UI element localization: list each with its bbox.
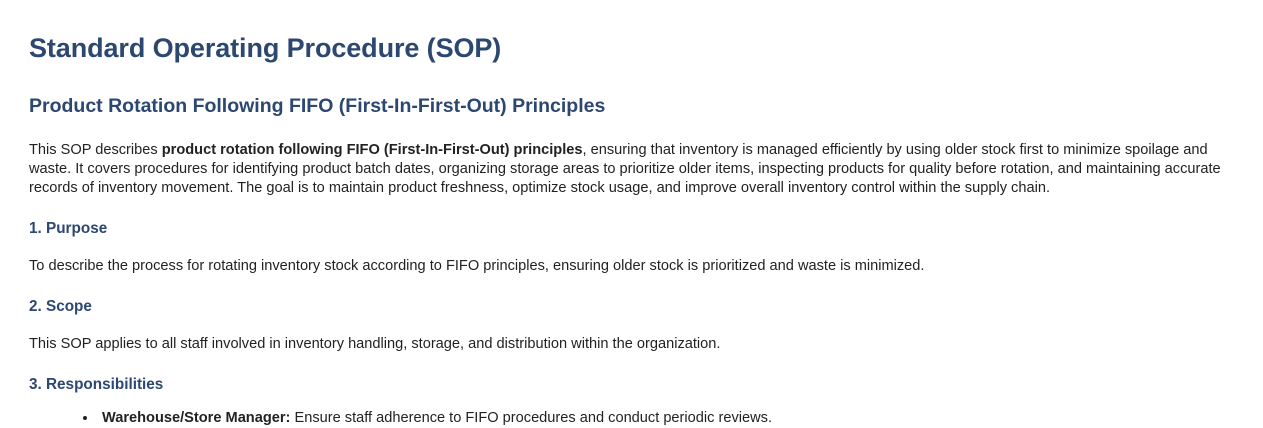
responsibilities-list: Warehouse/Store Manager: Ensure staff ad… bbox=[29, 395, 1234, 428]
document-subtitle: Product Rotation Following FIFO (First-I… bbox=[29, 64, 1234, 118]
section-heading-scope: 2. Scope bbox=[29, 276, 1234, 316]
intro-paragraph: This SOP describes product rotation foll… bbox=[29, 119, 1234, 198]
sop-document: Standard Operating Procedure (SOP) Produ… bbox=[0, 0, 1263, 428]
intro-lead-text: This SOP describes bbox=[29, 142, 162, 158]
page-title: Standard Operating Procedure (SOP) bbox=[29, 0, 1234, 64]
intro-emphasis-text: product rotation following FIFO (First-I… bbox=[162, 142, 583, 158]
responsibility-text: Ensure staff adherence to FIFO procedure… bbox=[290, 410, 772, 426]
section-heading-purpose: 1. Purpose bbox=[29, 198, 1234, 238]
section-heading-responsibilities: 3. Responsibilities bbox=[29, 354, 1234, 394]
responsibility-role: Warehouse/Store Manager: bbox=[102, 410, 290, 426]
section-body-purpose: To describe the process for rotating inv… bbox=[29, 238, 1234, 276]
list-item: Warehouse/Store Manager: Ensure staff ad… bbox=[98, 409, 1234, 428]
section-body-scope: This SOP applies to all staff involved i… bbox=[29, 316, 1234, 354]
